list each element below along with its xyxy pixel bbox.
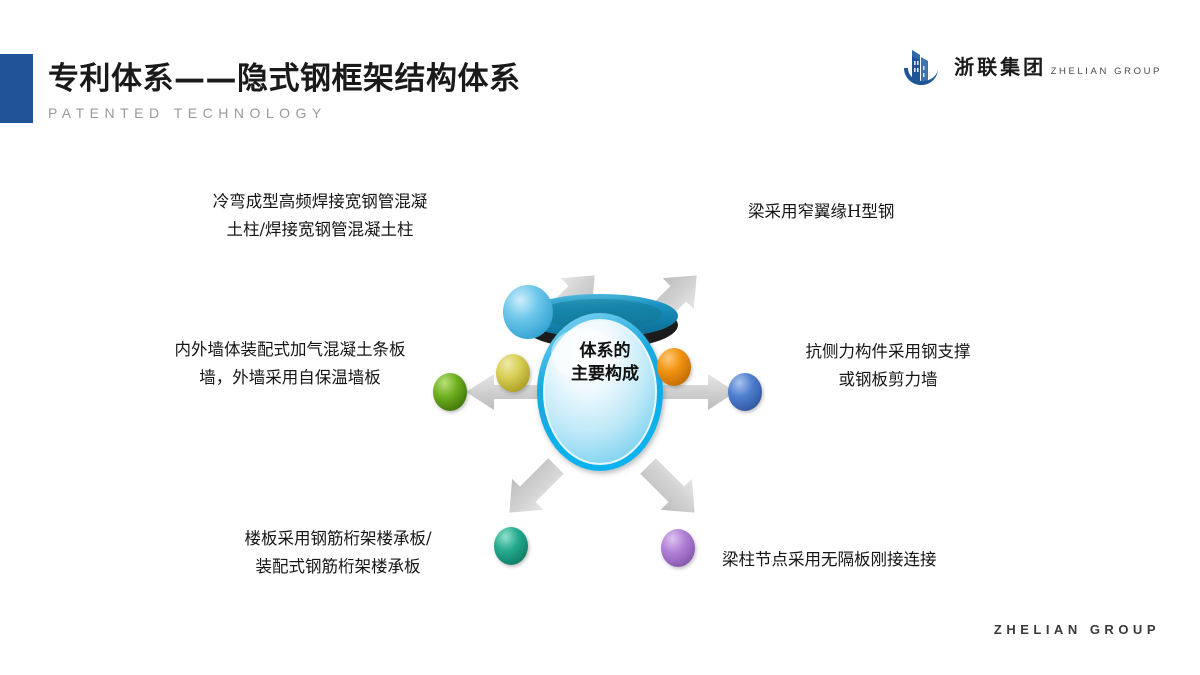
brand-logo: 浙联集团 ZHELIAN GROUP (898, 44, 1162, 90)
bullet-top-left (496, 354, 530, 392)
building-logo-icon (898, 44, 944, 90)
bullet-middle-right (728, 373, 762, 411)
node-label-line: 装配式钢筋桁架楼承板 (188, 553, 488, 581)
node-label-top-left: 冷弯成型高频焊接宽钢管混凝 土柱/焊接宽钢管混凝土柱 (160, 188, 480, 245)
arrow-down-right (632, 450, 710, 528)
node-label-bottom-left: 楼板采用钢筋桁架楼承板/ 装配式钢筋桁架楼承板 (188, 525, 488, 582)
arrow-down-left (494, 450, 572, 528)
node-label-line: 土柱/焊接宽钢管混凝土柱 (160, 216, 480, 244)
bullet-top-right (657, 348, 691, 386)
node-label-line: 楼板采用钢筋桁架楼承板/ (188, 525, 488, 553)
node-label-line: 梁柱节点采用无隔板刚接连接 (722, 546, 1022, 574)
bullet-bottom-left (494, 527, 528, 565)
page-subtitle: PATENTED TECHNOLOGY (48, 105, 327, 121)
node-label-line: 抗侧力构件采用钢支撑 (778, 338, 998, 366)
logo-name-en: ZHELIAN GROUP (1051, 66, 1162, 77)
node-label-middle-left: 内外墙体装配式加气混凝土条板 墙，外墙采用自保温墙板 (140, 336, 440, 393)
header-accent-bar (0, 54, 33, 123)
node-label-line: 冷弯成型高频焊接宽钢管混凝 (160, 188, 480, 216)
node-label-line: 或钢板剪力墙 (778, 366, 998, 394)
node-label-line: 内外墙体装配式加气混凝土条板 (140, 336, 440, 364)
logo-name-cn: 浙联集团 (954, 55, 1046, 79)
node-label-line: 梁采用窄翼缘H型钢 (748, 198, 1048, 226)
node-label-bottom-right: 梁柱节点采用无隔板刚接连接 (722, 546, 1022, 574)
node-label-top-right: 梁采用窄翼缘H型钢 (748, 198, 1048, 226)
bullet-bottom-right (661, 529, 695, 567)
footer-brand: ZHELIAN GROUP (994, 622, 1160, 637)
node-label-line: 墙，外墙采用自保温墙板 (140, 364, 440, 392)
hub-and-spoke-diagram: 体系的 主要构成 冷弯成型高频焊接宽钢管混凝 土柱/焊接宽钢管混凝土柱 梁采用窄… (0, 140, 1200, 620)
page-title: 专利体系——隐式钢框架结构体系 (48, 53, 521, 98)
node-label-middle-right: 抗侧力构件采用钢支撑 或钢板剪力墙 (778, 338, 998, 395)
